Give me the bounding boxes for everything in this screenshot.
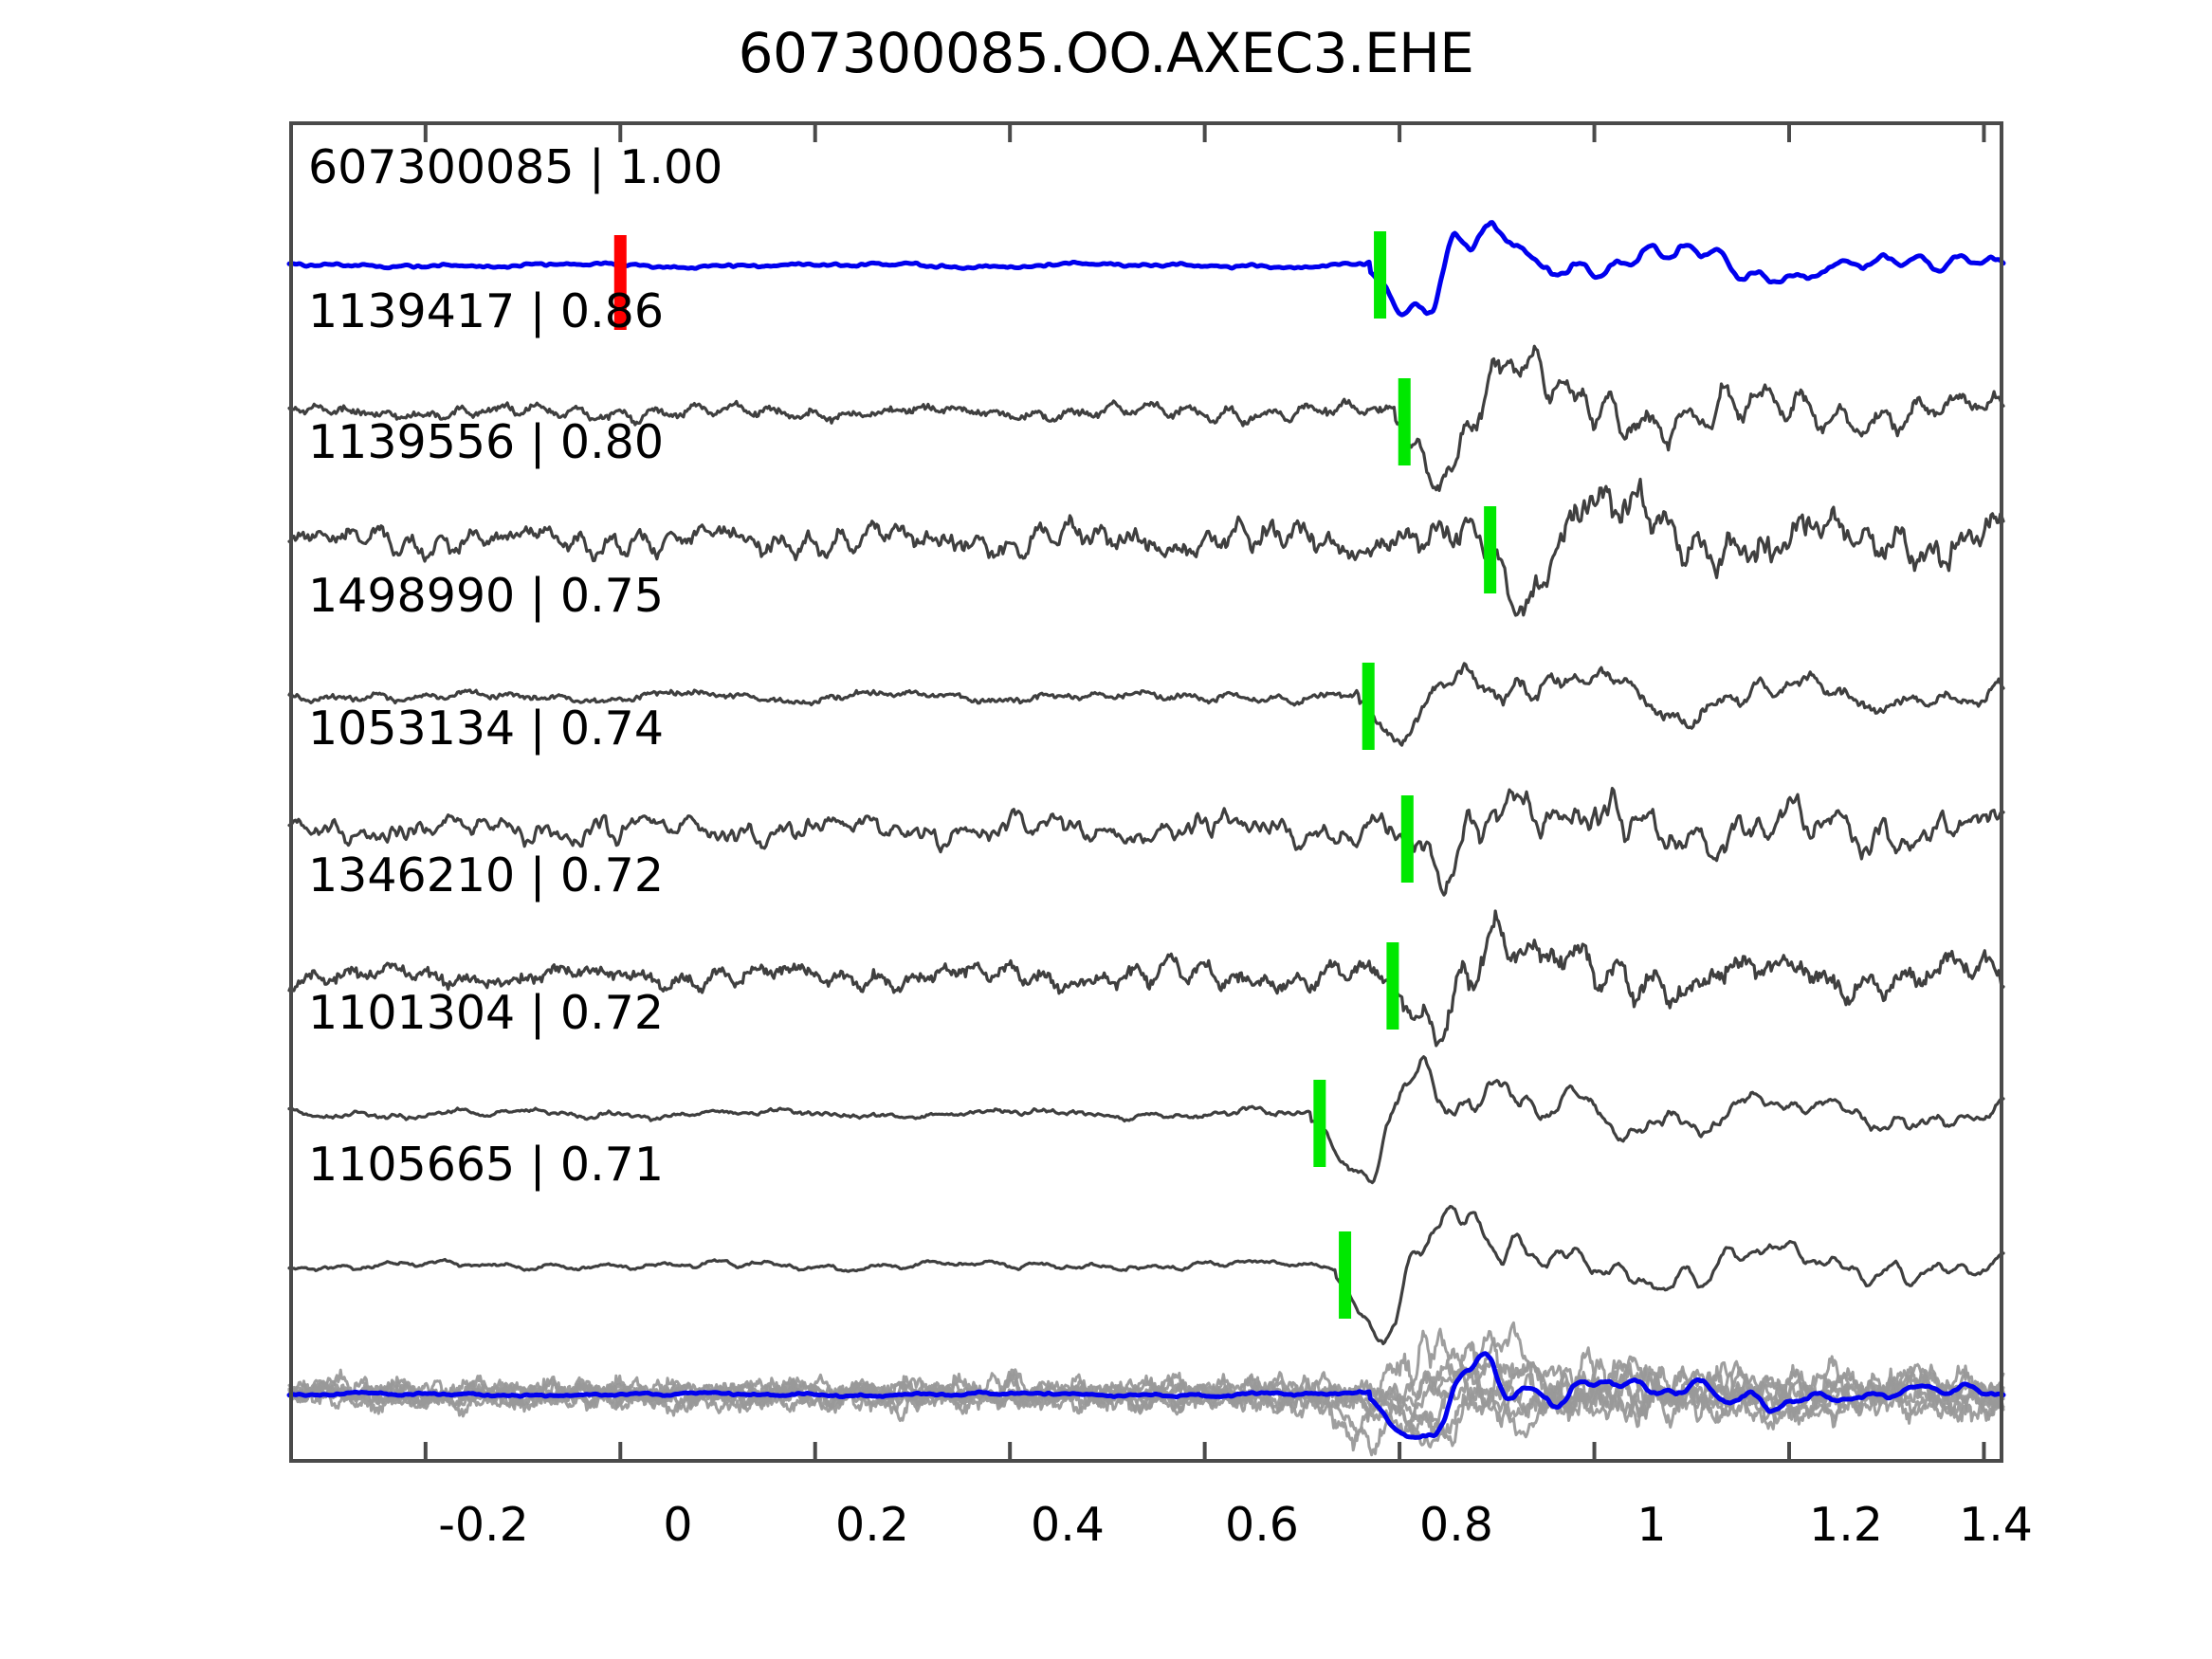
trace-label-1: 1139417 | 0.86 — [308, 284, 664, 338]
xtick-label: 0 — [663, 1498, 692, 1552]
chart-page: 607300085.OO.AXEC3.EHE 607300085 | 1.00 … — [0, 0, 2212, 1659]
xtick-label: 0.2 — [835, 1498, 909, 1552]
trace-label-6: 1101304 | 0.72 — [308, 986, 664, 1040]
xtick-label: 1.4 — [1959, 1498, 2033, 1552]
detection-pick-marker-1105665 — [1339, 1231, 1351, 1319]
detection-pick-marker-1498990 — [1362, 663, 1375, 750]
trace-label-4: 1053134 | 0.74 — [308, 702, 664, 756]
trace-label-2: 1139556 | 0.80 — [308, 415, 664, 469]
trace-label-5: 1346210 | 0.72 — [308, 848, 664, 902]
detection-pick-marker-1139417 — [1398, 378, 1411, 465]
stacked-reference-trace — [289, 1354, 2003, 1438]
detection-pick-marker-1139556 — [1484, 506, 1496, 593]
xtick-label: 0.4 — [1031, 1498, 1105, 1552]
waveform-trace-1105665 — [289, 1207, 2003, 1344]
page-title: 607300085.OO.AXEC3.EHE — [0, 21, 2212, 85]
xtick-label: -0.2 — [438, 1498, 529, 1552]
xtick-label: 1 — [1636, 1498, 1666, 1552]
detection-pick-marker-607300085 — [1374, 231, 1386, 319]
trace-label-3: 1498990 | 0.75 — [308, 569, 664, 623]
detection-pick-marker-1346210 — [1386, 942, 1398, 1030]
detection-pick-marker-1053134 — [1401, 795, 1414, 883]
xtick-label: 1.2 — [1809, 1498, 1883, 1552]
detection-pick-marker-1101304 — [1313, 1080, 1325, 1167]
xtick-label: 0.6 — [1225, 1498, 1299, 1552]
plot-area: 607300085 | 1.00 1139417 | 0.86 1139556 … — [289, 121, 2003, 1463]
trace-label-7: 1105665 | 0.71 — [308, 1138, 664, 1192]
xtick-label: 0.8 — [1419, 1498, 1493, 1552]
trace-label-0: 607300085 | 1.00 — [308, 140, 722, 194]
